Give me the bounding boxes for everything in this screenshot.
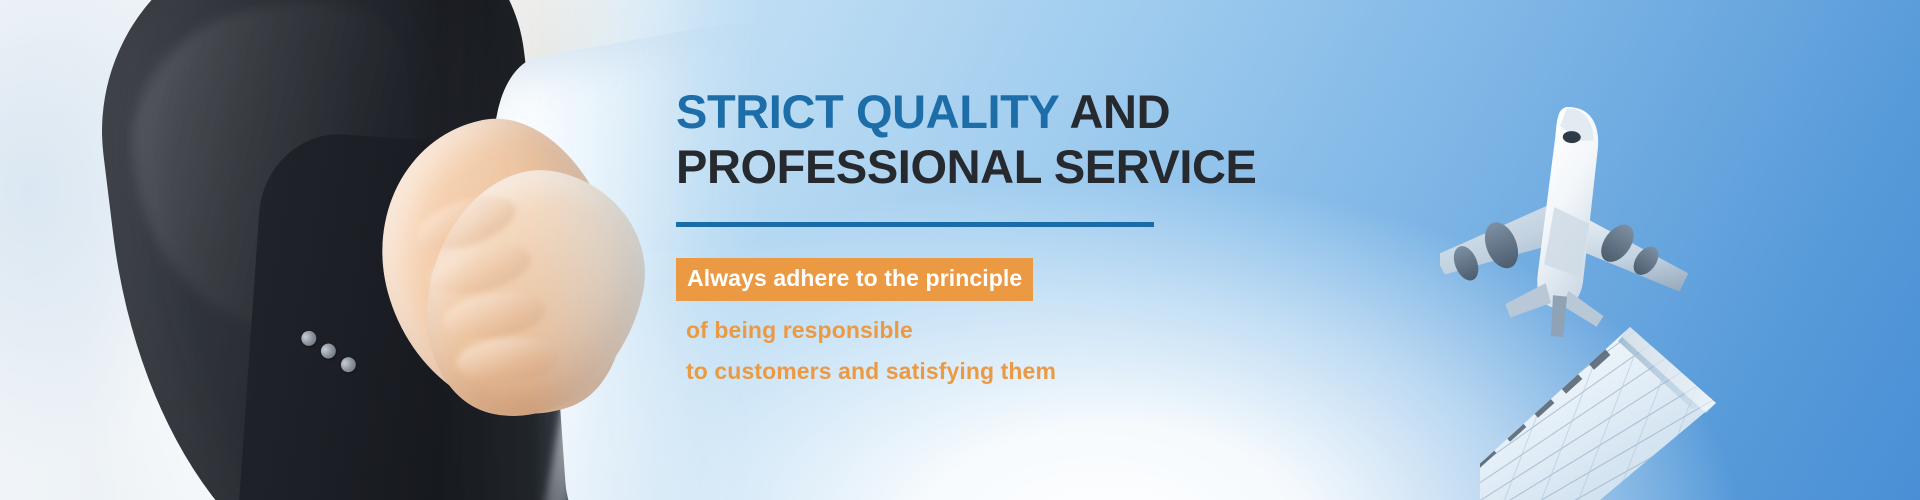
banner-copy: STRICT QUALITY AND PROFESSIONAL SERVICE … xyxy=(676,84,1316,383)
headline-divider xyxy=(676,222,1154,227)
knuckle-shading xyxy=(402,171,647,424)
tagline-line-3: to customers and satisfying them xyxy=(676,360,1316,383)
promo-banner: STRICT QUALITY AND PROFESSIONAL SERVICE … xyxy=(0,0,1920,500)
headline-highlight: STRICT QUALITY xyxy=(676,85,1059,138)
tagline-line-1: Always adhere to the principle xyxy=(676,258,1033,301)
headline-line-2: PROFESSIONAL SERVICE xyxy=(676,139,1316,194)
handshake-photo xyxy=(0,0,760,500)
headline-rest: AND xyxy=(1059,85,1171,138)
glass-tower xyxy=(1480,285,1920,500)
headline-line-1: STRICT QUALITY AND xyxy=(676,84,1316,139)
tagline-line-2: of being responsible xyxy=(676,319,1316,342)
tagline-block: Always adhere to the principle of being … xyxy=(676,258,1316,383)
